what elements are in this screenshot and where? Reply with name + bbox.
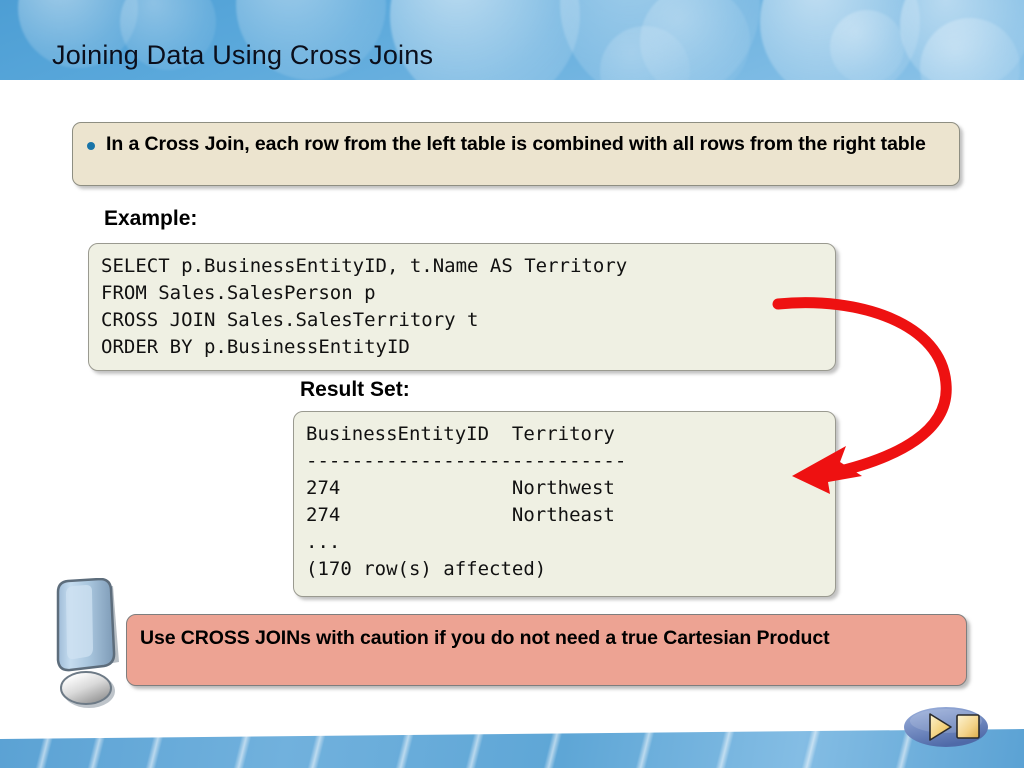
bokeh-circle	[830, 10, 904, 80]
footer-streak	[540, 729, 567, 768]
footer-streak	[798, 729, 825, 768]
result-set-heading: Result Set:	[300, 378, 410, 402]
page-title: Joining Data Using Cross Joins	[52, 40, 433, 71]
footer-streak	[712, 729, 739, 768]
bullet-row: In a Cross Join, each row from the left …	[73, 123, 959, 156]
caution-text: Use CROSS JOINs with caution if you do n…	[127, 615, 966, 651]
bullet-callout-box: In a Cross Join, each row from the left …	[72, 122, 960, 186]
footer-streak	[632, 729, 659, 768]
footer-streak	[462, 729, 489, 768]
exclamation-mark-icon	[38, 578, 130, 708]
bullet-text: In a Cross Join, each row from the left …	[106, 132, 926, 156]
stop-button[interactable]	[957, 715, 979, 738]
result-set-block: BusinessEntityID Territory -------------…	[293, 411, 836, 597]
bullet-dot-icon	[87, 142, 95, 150]
example-heading: Example:	[104, 207, 197, 231]
slide-footer-band	[0, 729, 1024, 768]
sql-code-block: SELECT p.BusinessEntityID, t.Name AS Ter…	[88, 243, 836, 371]
caution-callout-box: Use CROSS JOINs with caution if you do n…	[126, 614, 967, 686]
slide-navigation-controls[interactable]	[903, 706, 989, 748]
